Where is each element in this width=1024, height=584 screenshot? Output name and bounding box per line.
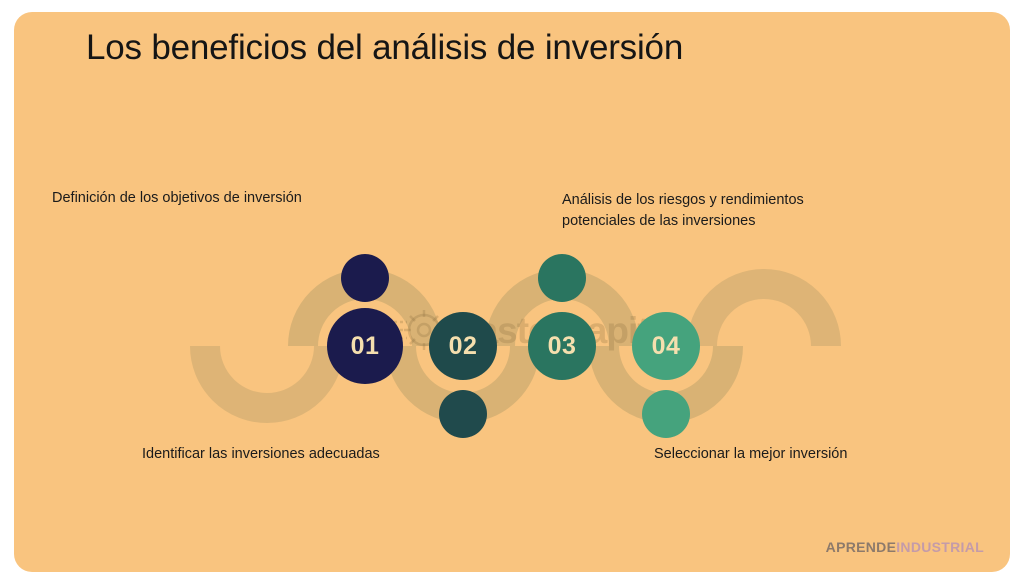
- step-accent-dot-03: [538, 254, 586, 302]
- step-circle-01[interactable]: 01: [327, 308, 403, 384]
- step-caption-03: Análisis de los riesgos y rendimientos p…: [562, 190, 892, 232]
- step-caption-04: Seleccionar la mejor inversión: [654, 444, 934, 465]
- step-number-label: 04: [652, 332, 681, 361]
- slide-canvas: FasterCapital Los beneficios del análisi…: [14, 12, 1010, 572]
- step-circle-04[interactable]: 04: [632, 312, 700, 380]
- step-number-label: 02: [449, 332, 478, 361]
- brand-part-two: INDUSTRIAL: [896, 539, 984, 555]
- page-title: Los beneficios del análisis de inversión: [86, 28, 683, 68]
- brand-part-one: APRENDE: [826, 539, 897, 555]
- background-ribbon: [14, 12, 1010, 572]
- step-circle-02[interactable]: 02: [429, 312, 497, 380]
- brand-logo: APRENDEINDUSTRIAL: [826, 539, 984, 555]
- step-number-label: 03: [548, 332, 577, 361]
- step-circle-03[interactable]: 03: [528, 312, 596, 380]
- step-accent-dot-02: [439, 390, 487, 438]
- step-accent-dot-04: [642, 390, 690, 438]
- step-number-label: 01: [351, 332, 380, 361]
- step-caption-01: Definición de los objetivos de inversión: [52, 188, 392, 209]
- step-accent-dot-01: [341, 254, 389, 302]
- step-caption-02: Identificar las inversiones adecuadas: [142, 444, 462, 465]
